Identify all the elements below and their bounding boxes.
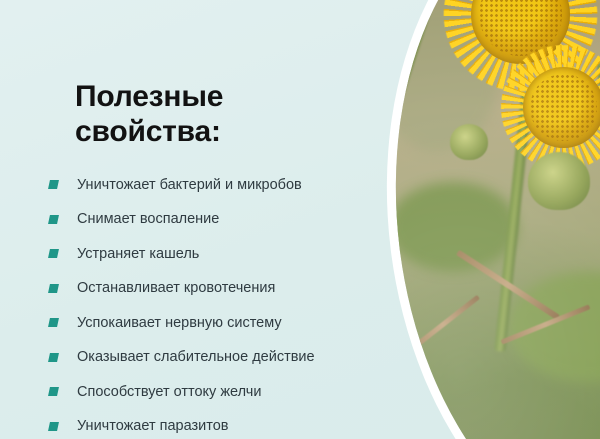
list-item-label: Останавливает кровотечения bbox=[77, 280, 275, 297]
bullet-square-icon bbox=[48, 284, 59, 293]
page-title: Полезные свойства: bbox=[75, 79, 365, 150]
foliage-blob bbox=[508, 272, 600, 382]
text-column: Полезные свойства: Уничтожает бактерий и… bbox=[0, 0, 400, 439]
list-item: Оказывает слабительное действие bbox=[47, 341, 397, 376]
bullet-square-icon bbox=[48, 387, 59, 396]
list-item-label: Уничтожает бактерий и микробов bbox=[77, 177, 302, 194]
dry-twig bbox=[406, 295, 480, 354]
list-item: Способствует оттоку желчи bbox=[47, 375, 397, 410]
page-title-line-2: свойства: bbox=[75, 115, 221, 148]
foliage-blob bbox=[388, 182, 518, 272]
list-item-label: Снимает воспаление bbox=[77, 211, 219, 228]
list-item: Уничтожает паразитов bbox=[47, 410, 397, 439]
list-item-label: Устраняет кашель bbox=[77, 246, 199, 263]
bullet-square-icon bbox=[48, 180, 59, 189]
list-item: Снимает воспаление bbox=[47, 203, 397, 238]
flower-disc bbox=[523, 67, 600, 148]
list-item: Успокаивает нервную систему bbox=[47, 306, 397, 341]
list-item-label: Успокаивает нервную систему bbox=[77, 315, 282, 332]
list-item-label: Способствует оттоку желчи bbox=[77, 384, 261, 401]
list-item-label: Уничтожает паразитов bbox=[77, 418, 229, 435]
list-item-label: Оказывает слабительное действие bbox=[77, 349, 315, 366]
bullet-square-icon bbox=[48, 215, 59, 224]
flower-bud bbox=[528, 152, 590, 210]
bullet-square-icon bbox=[48, 353, 59, 362]
page-title-line-1: Полезные bbox=[75, 80, 223, 113]
bullet-square-icon bbox=[48, 249, 59, 258]
bullet-square-icon bbox=[48, 318, 59, 327]
infographic-poster: Полезные свойства: Уничтожает бактерий и… bbox=[0, 0, 600, 439]
flower-bud bbox=[450, 124, 488, 160]
bullet-square-icon bbox=[48, 422, 59, 431]
list-item: Останавливает кровотечения bbox=[47, 272, 397, 307]
benefits-list: Уничтожает бактерий и микробов Снимает в… bbox=[47, 168, 397, 439]
list-item: Устраняет кашель bbox=[47, 237, 397, 272]
list-item: Уничтожает бактерий и микробов bbox=[47, 168, 397, 203]
